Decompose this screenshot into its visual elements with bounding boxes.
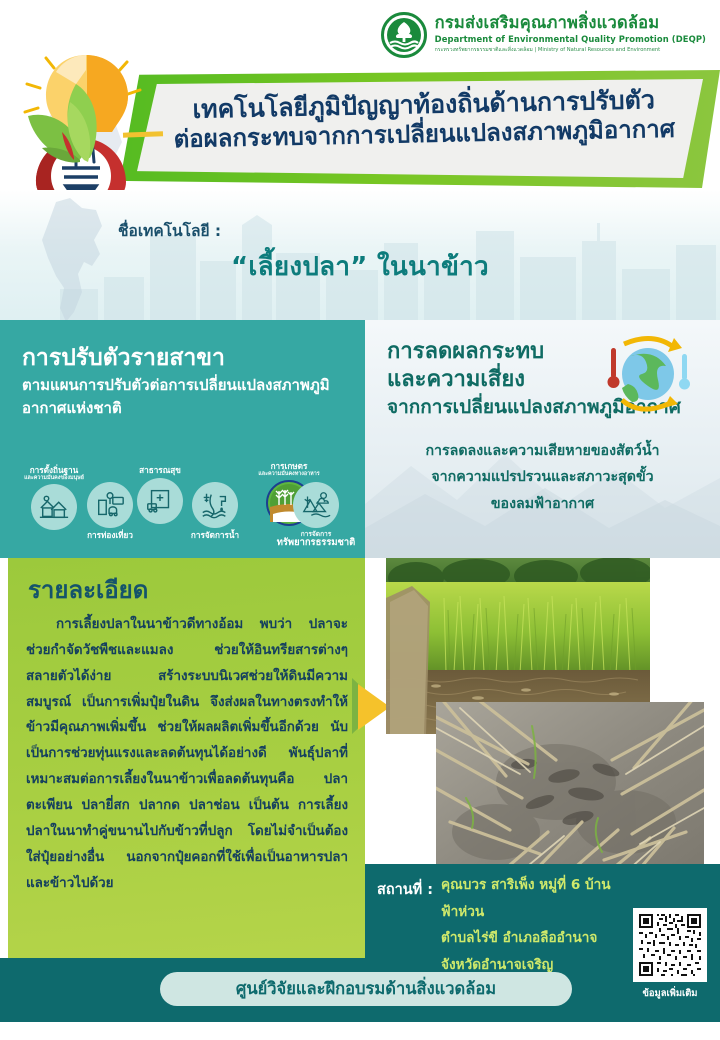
mitigation-body-line1: การลดลงและความเสียหายของสัตว์น้ำ (377, 438, 708, 464)
location-line1: คุณบวร สาริเพ็ง หมู่ที่ 6 บ้านฟ้าห่วน (441, 872, 626, 925)
qr-code-icon[interactable] (633, 908, 707, 982)
details-body: การเลี้ยงปลาในนาข้าวดีทางอ้อม พบว่า ปลาจ… (26, 612, 348, 896)
natural-resources-mountain-icon (293, 482, 339, 528)
sector-public-health-label: สาธารณสุข (139, 465, 181, 475)
technology-value: “เลี้ยงปลา” ในนาข้าว (0, 246, 720, 287)
mitigation-body-line3: ของลมฟ้าอากาศ (377, 491, 708, 517)
sector-natural-resources[interactable]: การจัดการ ทรัพยากรธรรมชาติ (268, 482, 364, 549)
globe-thermometer-climate-icon (590, 334, 698, 416)
mitigation-body-line2: จากความแปรปรวนและสภาวะสุดขั้ว (377, 464, 708, 490)
sector-water-management[interactable]: การจัดการน้ำ (168, 482, 262, 540)
footer-text: ศูนย์วิจัยและฝึกอบรมด้านสิ่งแวดล้อม (236, 976, 496, 1002)
adaptation-panel: การปรับตัวรายสาขา ตามแผนการปรับตัวต่อการ… (0, 320, 365, 558)
adaptation-title: การปรับตัวรายสาขา (22, 340, 225, 376)
location-lines: คุณบวร สาริเพ็ง หมู่ที่ 6 บ้านฟ้าห่วน ตำ… (441, 872, 626, 978)
sector-natural-resources-sub: ทรัพยากรธรรมชาติ (277, 537, 356, 548)
sector-settlement-sub: และความมั่นคงของมนุษย์ (6, 475, 102, 481)
technology-name-band: ชื่อเทคโนโลยี : “เลี้ยงปลา” ในนาข้าว (0, 190, 720, 320)
technology-label: ชื่อเทคโนโลยี : (118, 218, 221, 243)
sector-natural-resources-label: การจัดการ (268, 531, 364, 538)
mitigation-body: การลดลงและความเสียหายของสัตว์น้ำ จากความ… (377, 438, 708, 517)
sector-agriculture-sub: และความมั่นคงทางอาหาร (230, 471, 348, 477)
fish-in-muddy-rice-field-photo (436, 702, 704, 884)
deqp-logo-block: กรมส่งเสริมคุณภาพสิ่งแวดล้อม Department … (381, 12, 706, 58)
water-management-tap-icon (192, 482, 238, 528)
details-title: รายละเอียด (28, 570, 148, 609)
sector-tourism-label: การท่องเที่ยว (87, 530, 133, 540)
sector-settlement-label: การตั้งถิ่นฐาน (30, 465, 79, 475)
footer-white-strip (0, 1022, 720, 1040)
sector-icon-group: การตั้งถิ่นฐาน และความมั่นคงของมนุษย์ (0, 466, 365, 558)
qr-caption: ข้อมูลเพิ่มเติม (627, 986, 713, 1001)
poster-root: กรมส่งเสริมคุณภาพสิ่งแวดล้อม Department … (0, 0, 720, 1040)
location-bar: สถานที่ : คุณบวร สาริเพ็ง หมู่ที่ 6 บ้าน… (365, 864, 720, 1040)
mitigation-title-line1: การลดผลกระทบ (387, 338, 544, 366)
tourism-city-bus-icon (87, 482, 133, 528)
sector-agriculture-label: การเกษตร (271, 461, 308, 471)
sector-tourism[interactable]: การท่องเที่ยว (62, 482, 158, 540)
org-name-thai: กรมส่งเสริมคุณภาพสิ่งแวดล้อม (435, 14, 706, 32)
footer-pill: ศูนย์วิจัยและฝึกอบรมด้านสิ่งแวดล้อม (160, 972, 572, 1006)
location-label: สถานที่ : (377, 878, 433, 901)
banner-text-group: เทคโนโลยีภูมิปัญญาท้องถิ่นด้านการปรับตัว… (149, 84, 698, 153)
adaptation-subtitle: ตามแผนการปรับตัวต่อการเปลี่ยนแปลงสภาพภูม… (22, 374, 352, 419)
org-name-english: Department of Environmental Quality Prom… (435, 34, 706, 44)
location-line2: ตำบลไร่ขี อำเภอลืออำนาจ (441, 925, 626, 952)
mitigation-title: การลดผลกระทบ และความเสี่ยง (387, 338, 544, 393)
mitigation-title-line2: และความเสี่ยง (387, 366, 544, 394)
mitigation-panel: การลดผลกระทบ และความเสี่ยง จากการเปลี่ยน… (365, 320, 720, 558)
deqp-tree-water-seal-icon (381, 12, 427, 58)
sector-water-management-label: การจัดการน้ำ (191, 530, 239, 540)
details-panel: รายละเอียด การเลี้ยงปลาในนาข้าวดีทางอ้อม… (8, 558, 365, 958)
org-ministry-line: กระทรวงทรัพยากรธรรมชาติและสิ่งแวดล้อม | … (435, 46, 706, 54)
